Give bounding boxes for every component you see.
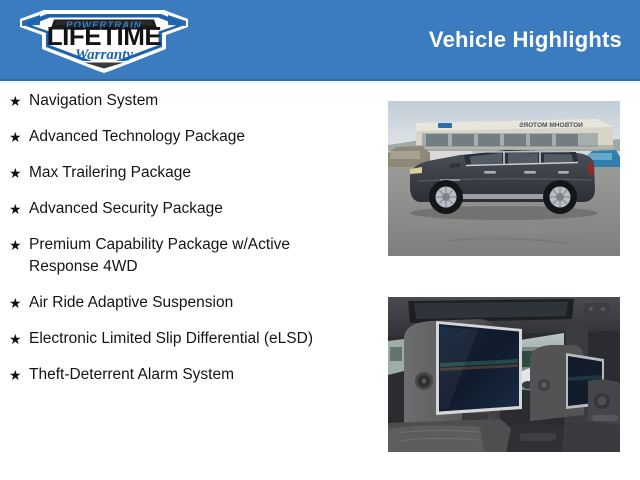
vehicle-highlights-list: ★ Navigation System ★ Advanced Technolog… [0, 90, 372, 400]
page-title: Vehicle Highlights [429, 27, 622, 53]
list-item-label: Theft-Deterrent Alarm System [29, 364, 372, 386]
list-item-label: Advanced Technology Package [29, 126, 372, 148]
star-bullet-icon: ★ [9, 364, 29, 386]
list-item-label: Air Ride Adaptive Suspension [29, 292, 372, 314]
list-item-label: Max Trailering Package [29, 162, 372, 184]
list-item-label: Premium Capability Package w/Active Resp… [29, 234, 372, 278]
list-item: ★ Advanced Security Package [0, 198, 372, 220]
svg-text:NOTBOHM MOTORS: NOTBOHM MOTORS [518, 122, 582, 129]
star-bullet-icon: ★ [9, 90, 29, 112]
list-item: ★ Advanced Technology Package [0, 126, 372, 148]
list-item-label: Electronic Limited Slip Differential (eL… [29, 328, 372, 350]
logo-warranty-text: Warranty [75, 47, 133, 63]
star-bullet-icon: ★ [9, 328, 29, 350]
star-bullet-icon: ★ [9, 292, 29, 314]
list-item: ★ Navigation System [0, 90, 372, 112]
header-soft-divider [0, 81, 640, 84]
list-item-label: Navigation System [29, 90, 372, 112]
list-item: ★ Theft-Deterrent Alarm System [0, 364, 372, 386]
powertrain-lifetime-warranty-logo: POWERTRAIN LIFETIME Warranty [14, 5, 194, 75]
star-bullet-icon: ★ [9, 126, 29, 148]
vehicle-exterior-photo: NOTBOHM MOTORS [388, 101, 620, 256]
star-bullet-icon: ★ [9, 198, 29, 220]
vehicle-interior-photo [388, 297, 620, 452]
list-item: ★ Max Trailering Package [0, 162, 372, 184]
list-item-label: Advanced Security Package [29, 198, 372, 220]
star-bullet-icon: ★ [9, 162, 29, 184]
list-item: ★ Premium Capability Package w/Active Re… [0, 234, 372, 278]
star-bullet-icon: ★ [9, 234, 29, 256]
list-item: ★ Air Ride Adaptive Suspension [0, 292, 372, 314]
list-item: ★ Electronic Limited Slip Differential (… [0, 328, 372, 350]
